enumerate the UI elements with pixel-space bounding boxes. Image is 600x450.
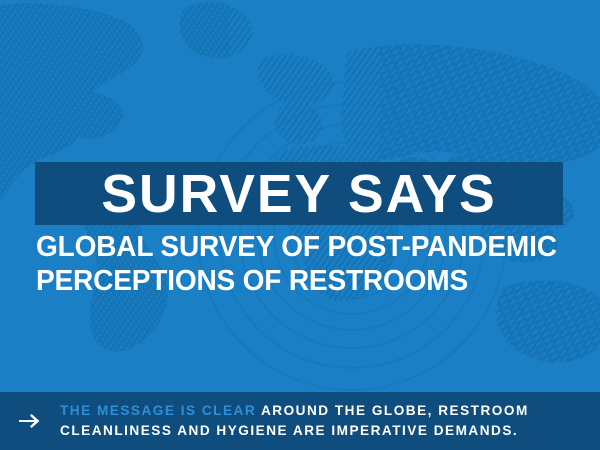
subtitle-line-2: PERCEPTIONS OF RESTROOMS <box>36 264 568 298</box>
page-title: SURVEY SAYS <box>38 162 561 225</box>
banner-line-1: THE MESSAGE IS CLEAR AROUND THE GLOBE, R… <box>60 401 584 421</box>
page-subtitle: GLOBAL SURVEY OF POST-PANDEMIC PERCEPTIO… <box>36 230 576 298</box>
message-banner: THE MESSAGE IS CLEAR AROUND THE GLOBE, R… <box>0 392 600 450</box>
survey-poster: SURVEY SAYS GLOBAL SURVEY OF POST-PANDEM… <box>0 0 600 450</box>
banner-message: THE MESSAGE IS CLEAR AROUND THE GLOBE, R… <box>60 401 600 440</box>
subtitle-line-1: GLOBAL SURVEY OF POST-PANDEMIC <box>36 230 568 264</box>
arrow-right-icon <box>0 414 60 428</box>
banner-highlight: THE MESSAGE IS CLEAR <box>60 403 256 418</box>
banner-line-2: CLEANLINESS AND HYGIENE ARE IMPERATIVE D… <box>60 421 584 441</box>
world-map-background-icon <box>0 0 600 450</box>
banner-line-1-rest: AROUND THE GLOBE, RESTROOM <box>256 403 529 418</box>
